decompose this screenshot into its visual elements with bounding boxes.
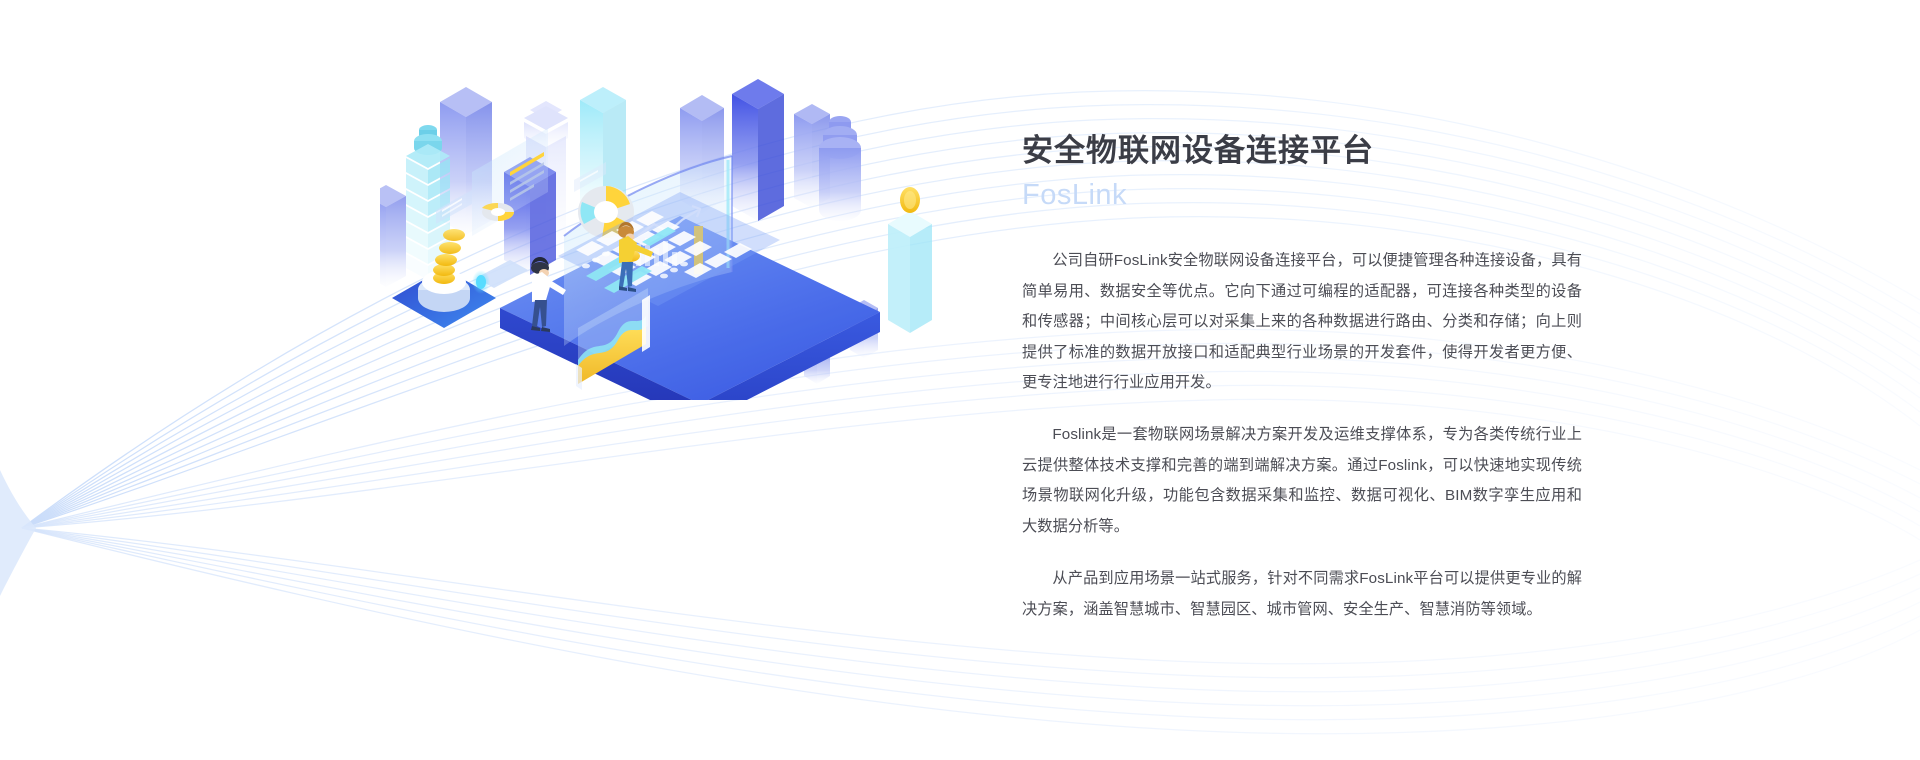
tower-violet-dome [819, 116, 861, 221]
tower-edge-left [380, 185, 406, 287]
page-title: 安全物联网设备连接平台 [1022, 132, 1582, 171]
description-paragraph-2: Foslink是一套物联网场景解决方案开发及运维支撑体系，专为各类传统行业上云提… [1022, 420, 1582, 542]
description-paragraph-3: 从产品到应用场景一站式服务，针对不同需求FosLink平台可以提供更专业的解决方… [1022, 564, 1582, 625]
coin-tower [888, 187, 932, 333]
tower-blue-right-b [732, 79, 784, 221]
text-column: 安全物联网设备连接平台 FosLink 公司自研FosLink安全物联网设备连接… [1022, 132, 1582, 625]
isometric-platform-illustration [380, 60, 1000, 400]
page-root: 安全物联网设备连接平台 FosLink 公司自研FosLink安全物联网设备连接… [0, 0, 1920, 760]
description-paragraph-1: 公司自研FosLink安全物联网设备连接平台，可以便捷管理各种连接设备，具有简单… [1022, 246, 1582, 398]
page-subtitle: FosLink [1022, 177, 1582, 215]
left-panel-donut [482, 203, 514, 221]
